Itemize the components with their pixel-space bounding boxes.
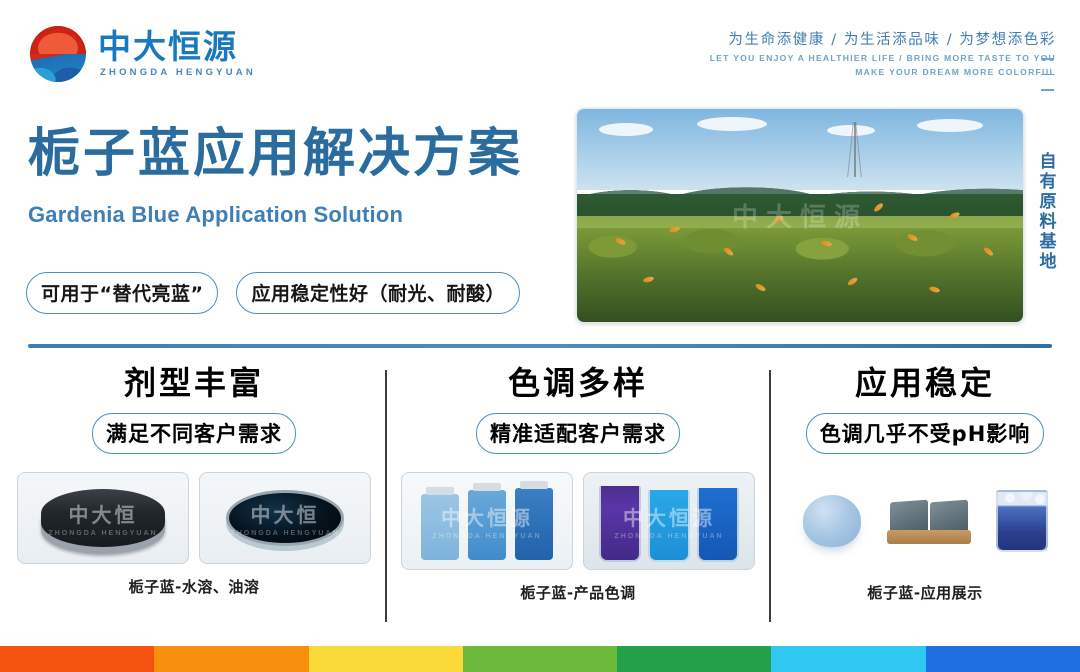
photo-vertical-caption: 自有原料基地	[1034, 152, 1056, 272]
column-pill-0: 满足不同客户需求	[92, 413, 296, 454]
column-pill-1: 精准适配客户需求	[476, 413, 680, 454]
column-divider-1	[385, 370, 387, 622]
image-blue-solution-bottles: 中大恒源ZHONGDA HENGYUAN	[401, 472, 573, 570]
image-blue-solution-glasses: 中大恒源ZHONGDA HENGYUAN	[583, 472, 755, 570]
feature-column-0: 剂型丰富 满足不同客户需求 中大恒ZHONGDA HENGYUAN 中大恒ZHO…	[8, 360, 380, 597]
bottle-light-blue-icon	[421, 494, 459, 560]
slogan-en-line2: MAKE YOUR DREAM MORE COLORFUL	[710, 67, 1056, 77]
bottle-medium-blue-icon	[468, 490, 506, 560]
rainbow-band-6	[926, 646, 1080, 672]
image-blue-iced-drink	[983, 472, 1061, 570]
image-gardenia-blue-liquid-dish: 中大恒ZHONGDA HENGYUAN	[199, 472, 371, 564]
column-image-row-2	[776, 472, 1074, 570]
rainbow-footer-bar	[0, 646, 1080, 672]
page-subtitle: Gardenia Blue Application Solution	[28, 202, 403, 228]
bottle-deep-blue-icon	[515, 488, 553, 560]
column-divider-2	[769, 370, 771, 622]
brand-name-en: ZHONGDA HENGYUAN	[98, 67, 256, 78]
ice-cream-scoop-icon	[803, 495, 861, 547]
image-blue-cake-slices	[881, 472, 977, 570]
glass-cyan-icon	[648, 490, 690, 562]
page-header: 中大恒源 ZHONGDA HENGYUAN 为生命添健康 / 为生活添品味 / …	[0, 0, 1080, 100]
hero-tag-list: 可用于“替代亮蓝” 应用稳定性好（耐光、耐酸）	[26, 272, 520, 314]
petri-dish-liquid-icon	[226, 490, 344, 546]
column-title-0: 剂型丰富	[8, 366, 380, 401]
hero-tag-1: 应用稳定性好（耐光、耐酸）	[236, 272, 520, 314]
sunrise-wave-logo-icon	[30, 26, 86, 82]
rainbow-band-1	[154, 646, 308, 672]
page-title: 栀子蓝应用解决方案	[28, 128, 523, 180]
image-blue-ice-cream	[789, 472, 875, 570]
brand-name-cn: 中大恒源	[98, 30, 256, 65]
plantation-photo: 中大恒源	[576, 108, 1024, 323]
feature-column-2: 应用稳定 色调几乎不受pH影响 栀子蓝-应用展示	[776, 360, 1074, 603]
column-title-1: 色调多样	[392, 366, 764, 401]
brand-logo[interactable]: 中大恒源 ZHONGDA HENGYUAN	[30, 26, 256, 82]
glass-purple-icon	[599, 486, 641, 562]
column-image-row-0: 中大恒ZHONGDA HENGYUAN 中大恒ZHONGDA HENGYUAN	[8, 472, 380, 564]
image-gardenia-blue-powder-dish: 中大恒ZHONGDA HENGYUAN	[17, 472, 189, 564]
slogan-en-line1: LET YOU ENJOY A HEALTHIER LIFE / BRING M…	[710, 53, 1056, 63]
column-title-2: 应用稳定	[776, 366, 1074, 401]
column-caption-0: 栀子蓝-水溶、油溶	[8, 576, 380, 597]
rainbow-band-3	[463, 646, 617, 672]
rainbow-band-5	[771, 646, 925, 672]
rainbow-band-4	[617, 646, 771, 672]
column-image-row-1: 中大恒源ZHONGDA HENGYUAN 中大恒源ZHONGDA HENGYUA…	[392, 472, 764, 570]
feature-column-1: 色调多样 精准适配客户需求 中大恒源ZHONGDA HENGYUAN 中大恒源Z…	[392, 360, 764, 603]
rainbow-band-2	[309, 646, 463, 672]
brand-logo-text: 中大恒源 ZHONGDA HENGYUAN	[98, 30, 256, 79]
cake-slices-icon	[887, 498, 971, 544]
rainbow-band-0	[0, 646, 154, 672]
hero-tag-0: 可用于“替代亮蓝”	[26, 272, 218, 314]
petri-dish-powder-icon	[41, 489, 165, 547]
column-pill-2: 色调几乎不受pH影响	[806, 413, 1045, 454]
iced-drink-icon	[996, 490, 1048, 552]
slogan-cn: 为生命添健康 / 为生活添品味 / 为梦想添色彩	[710, 28, 1056, 49]
slogan-rule-marks-icon	[1041, 58, 1054, 91]
glass-blue-icon	[697, 488, 739, 562]
brand-slogan: 为生命添健康 / 为生活添品味 / 为梦想添色彩 LET YOU ENJOY A…	[710, 28, 1056, 77]
feature-columns: 剂型丰富 满足不同客户需求 中大恒ZHONGDA HENGYUAN 中大恒ZHO…	[0, 360, 1080, 640]
column-caption-1: 栀子蓝-产品色调	[392, 582, 764, 603]
column-caption-2: 栀子蓝-应用展示	[776, 582, 1074, 603]
section-divider	[28, 344, 1052, 348]
photo-watermark: 中大恒源	[577, 109, 1023, 322]
